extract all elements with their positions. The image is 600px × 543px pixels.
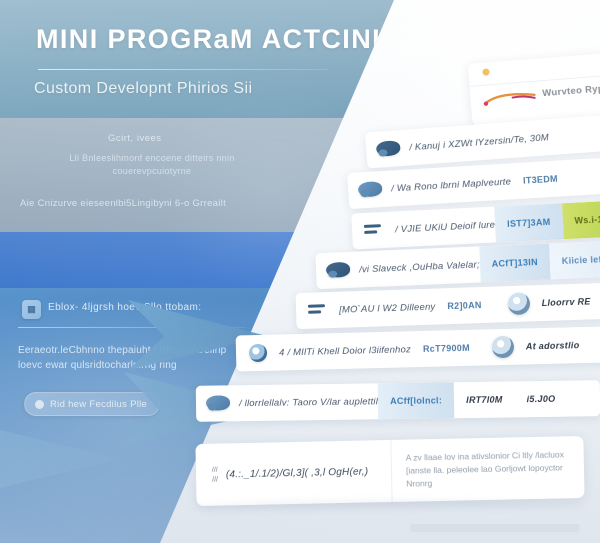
status-badge: RcT7900M xyxy=(411,330,483,368)
list-item-label: 4 / MIlTi Khell Doior l3iifenhoz xyxy=(279,344,411,358)
avatar xyxy=(507,292,530,315)
infographic-canvas: MINI PROGRaM ACTCINI Custom Developnt Ph… xyxy=(0,0,600,543)
footer-card[interactable]: /// /// (4.:._1/.1/2)/Gl,3]( ,3,l OgH(er… xyxy=(195,436,584,506)
top-card-label: Wurvteo Rypeti xyxy=(542,82,600,99)
list-item-label: / Wa Rono lbrni Maplveurte xyxy=(391,176,512,194)
status-badge: lT3EDM xyxy=(510,160,571,199)
status-badge-alt: At adorstlio xyxy=(513,327,591,365)
status-badge-value: i5.J0O xyxy=(514,381,567,418)
mid-band-heading: Gcirt, ivees xyxy=(108,133,162,144)
cta-button[interactable]: Rid hew Fecdilus Plle xyxy=(24,392,160,416)
list-item-label: / llorrlellalv: Taoro V/lar auplettil xyxy=(239,396,378,409)
footer-left-section: /// /// (4.:._1/.1/2)/Gl,3]( ,3,l OgH(er… xyxy=(195,440,392,506)
status-badge: ACfT]13IN xyxy=(479,244,551,283)
footer-mark-1: /// xyxy=(212,466,218,473)
status-badge: R2]0AN xyxy=(435,287,494,325)
ring-icon xyxy=(246,343,272,364)
footer-note-line-2: [ianste lla. peleolee lao Gorljowt lopoy… xyxy=(406,461,571,490)
status-badge-alt: Lloorrv RE xyxy=(529,283,600,321)
status-badge: lST7]3AM xyxy=(494,203,563,242)
blob-light-icon xyxy=(358,179,385,201)
blob-light-icon xyxy=(206,393,232,413)
stack-icon xyxy=(362,220,389,241)
title-divider xyxy=(38,69,328,70)
top-highlight-card[interactable]: Wurvteo Rypeti xyxy=(468,52,600,126)
status-badge-alt: Kiicie lef Jeil xyxy=(549,241,600,280)
list-item-label: /vi Slaveck ,OuHba Valelar; xyxy=(359,259,480,275)
footer-right-section: A zv llaae lov ina ativslonior Ci ltly /… xyxy=(392,447,585,490)
avatar xyxy=(492,336,515,359)
app-tile-icon: ▦ xyxy=(22,300,41,319)
list-item-label: / Kanuj i XZWt lYzersin/Te, 30M xyxy=(409,132,549,153)
bottom-strip xyxy=(410,524,580,532)
cta-bullet-icon xyxy=(35,400,44,409)
blob-dark-icon xyxy=(376,138,403,160)
status-badge-alt: lRT7l0M xyxy=(454,381,515,418)
footer-mark-2: /// xyxy=(212,476,218,483)
page-title: MINI PROGRaM ACTCINI xyxy=(36,24,396,55)
list-item[interactable]: / llorrlellalv: Taoro V/lar auplettil AC… xyxy=(196,380,600,422)
footer-code-label: (4.:._1/.1/2)/Gl,3]( ,3,l OgH(er,) xyxy=(226,466,369,480)
body-band-heading: Eblox- 4ljgrsh hoev Sllo ttobam: xyxy=(48,302,201,313)
page-subtitle: Custom Developnt Phirios Sii xyxy=(34,80,364,98)
list-item-label: [MO`AU l W2 Dilleeny xyxy=(339,301,436,315)
cta-button-label: Rid hew Fecdilus Plle xyxy=(50,399,147,410)
list-item-label: / VJIE UKiU Deioif lure xyxy=(395,219,496,235)
footer-marks-icon: /// /// xyxy=(212,466,218,483)
stack-icon xyxy=(306,300,333,321)
blob-dark-icon xyxy=(326,260,353,281)
swoosh-icon xyxy=(482,89,539,107)
status-badge: ACff[lolncl: xyxy=(378,382,455,419)
mid-band-line-1: Lli Bnleeslihmonf encoene ditteirs nnin … xyxy=(42,152,262,178)
app-tile-glyph: ▦ xyxy=(22,300,41,319)
footer-shadow xyxy=(196,500,586,512)
mid-band-line-2: Aie Cnizurve eieseenlbi5Lingibyni 6-o Gr… xyxy=(20,198,290,209)
status-badge-alt: Ws.i-1 D xyxy=(562,200,600,239)
spark-dot-icon xyxy=(482,68,490,76)
